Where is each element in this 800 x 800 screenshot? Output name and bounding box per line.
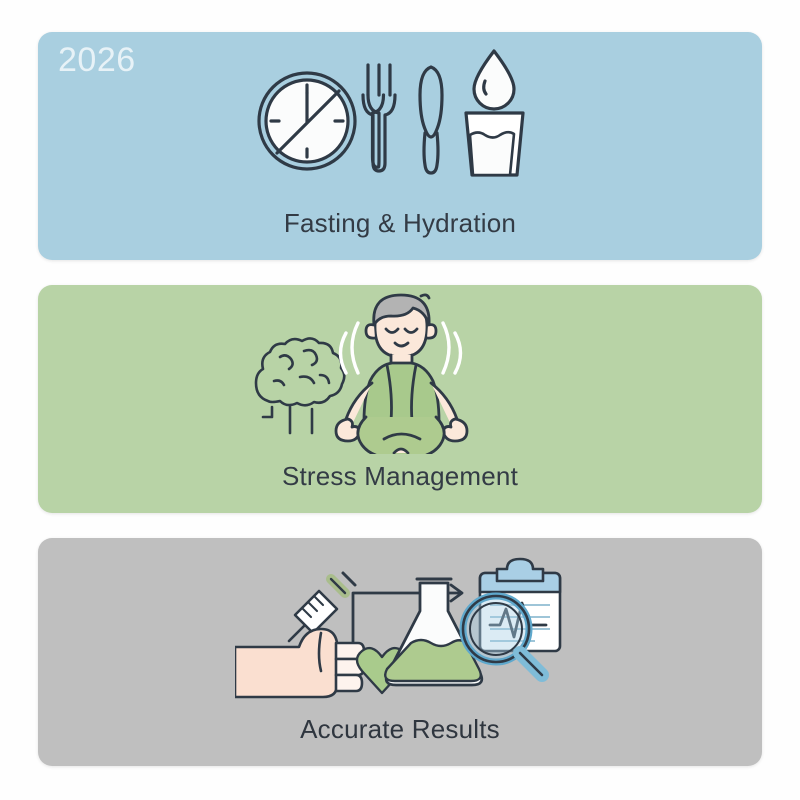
water-glass-icon <box>466 113 523 175</box>
card-label-stress: Stress Management <box>38 463 762 489</box>
fork-icon <box>363 65 395 171</box>
infographic-page: 2026 <box>0 0 800 800</box>
clock-icon <box>259 73 355 169</box>
stress-icon-group <box>38 291 762 451</box>
results-icon-group <box>38 544 762 704</box>
water-drop-icon <box>474 51 514 109</box>
card-fasting-hydration[interactable]: 2026 <box>38 32 762 260</box>
brain-icon <box>256 338 344 433</box>
knife-icon <box>420 67 442 173</box>
card-stack: 2026 <box>38 32 762 768</box>
card-label-fasting: Fasting & Hydration <box>38 210 762 236</box>
card-accurate-results[interactable]: Accurate Results <box>38 538 762 766</box>
fasting-icon-group <box>38 38 762 198</box>
meditating-person-icon <box>336 294 467 453</box>
card-label-results: Accurate Results <box>38 716 762 742</box>
card-stress-management[interactable]: Stress Management <box>38 285 762 513</box>
hand-fist-icon <box>235 629 364 697</box>
